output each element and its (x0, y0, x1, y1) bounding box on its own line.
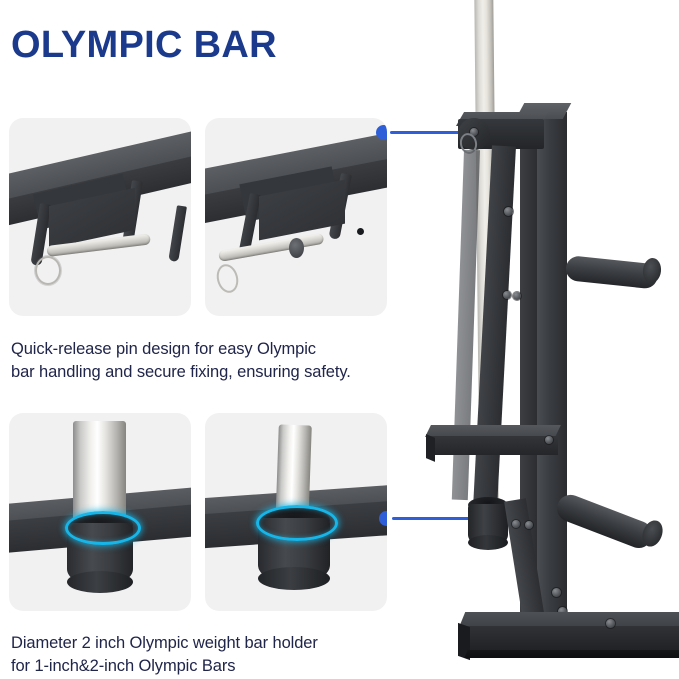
brace-bolt (512, 520, 520, 528)
base-rail-face (462, 626, 679, 652)
base-rail-bolt (606, 619, 615, 628)
product-image (400, 0, 679, 679)
bracket-pin-hole (357, 228, 364, 235)
cup-holder-bottom (258, 567, 330, 590)
storage-peg-lower (553, 491, 656, 552)
bottom-cup-holder-base (468, 535, 508, 550)
quick-release-pin-collar (289, 238, 304, 258)
strut-bolt (503, 291, 511, 299)
front-vertical-post (537, 112, 567, 634)
panel-image-one-inch-bar (205, 413, 387, 611)
feature-caption-diameter: Diameter 2 inch Olympic weight bar holde… (11, 632, 431, 678)
mid-cross-rail-end-cap (426, 434, 435, 462)
brace-bolt (552, 588, 561, 597)
feature-panel-pin-removed (205, 118, 387, 316)
storage-peg-upper-end-cap (642, 257, 663, 284)
quick-release-pin-ring (35, 256, 61, 285)
feature-panel-one-inch-bar (205, 413, 387, 611)
feature-caption-quick-release: Quick-release pin design for easy Olympi… (11, 338, 411, 384)
feature-panel-pin-inserted (9, 118, 191, 316)
panel-image-pin-removed (205, 118, 387, 316)
cup-holder-bottom (67, 571, 133, 593)
brace-bolt (525, 521, 533, 529)
cup-highlight-ring (65, 511, 141, 545)
strut-bolt (504, 207, 513, 216)
mid-cross-rail-face (428, 436, 558, 455)
feature-panel-two-inch-bar (9, 413, 191, 611)
strut-bolt (513, 292, 521, 300)
quick-release-pin-ring (214, 262, 241, 295)
callout-dot-cup (379, 511, 387, 526)
panel-image-pin-inserted (9, 118, 191, 316)
cross-rail-bolt (545, 436, 553, 444)
cup-highlight-ring (256, 505, 338, 541)
callout-dot-pin (376, 125, 387, 140)
page-title: OLYMPIC BAR (11, 23, 277, 67)
infographic-page: OLYMPIC BAR (0, 0, 679, 679)
base-rail-shadow (464, 650, 679, 658)
bracket-partial-arm (168, 205, 187, 262)
panel-image-two-inch-bar (9, 413, 191, 611)
